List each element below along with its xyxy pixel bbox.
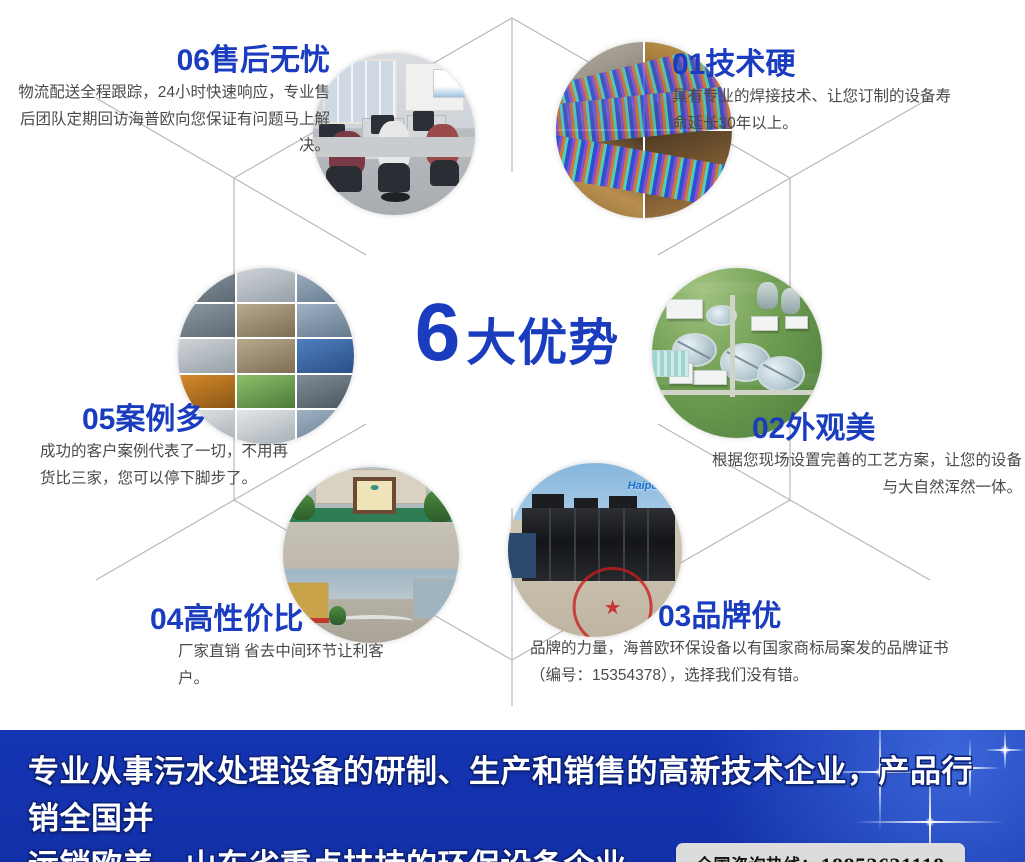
center-word: 大优势: [466, 318, 619, 368]
brand-watermark: Haipuou: [628, 480, 672, 492]
feature-05-heading: 05案例多: [40, 403, 330, 436]
feature-04-heading: 04高性价比: [150, 603, 480, 636]
hotline-label: 全国咨询热线：: [696, 853, 819, 862]
feature-01-heading: 01技术硬: [672, 48, 1002, 81]
feature-01: 01技术硬 具有专业的焊接技术、让您订制的设备寿命延长30年以上。: [672, 48, 1002, 137]
feature-03-body: 品牌的力量，海普欧环保设备以有国家商标局案发的品牌证书（编号：15354378）…: [530, 636, 970, 689]
feature-04: 04高性价比 厂家直销 省去中间环节让利客户。: [150, 603, 480, 692]
banner-line-2: 远销欧美，山东省重点扶持的环保设备企业。: [28, 842, 658, 862]
feature-03-heading: 03品牌优: [530, 600, 1025, 633]
feature-06-heading: 06售后无忧: [10, 44, 330, 77]
center-number: 6: [415, 292, 459, 374]
feature-02: 02外观美 根据您现场设置完善的工艺方案，让您的设备与大自然浑然一体。: [700, 412, 1022, 501]
center-headline: 6 大优势: [392, 292, 642, 372]
banner-text: 专业从事污水处理设备的研制、生产和销售的高新技术企业，产品行销全国并 远销欧美，…: [28, 748, 988, 862]
feature-06: 06售后无忧 物流配送全程跟踪，24小时快速响应，专业售后团队定期回访海普欧向您…: [10, 44, 330, 160]
hex-tail-lower-right: [790, 500, 930, 580]
banner-line-1: 专业从事污水处理设备的研制、生产和销售的高新技术企业，产品行销全国并: [28, 748, 988, 842]
hex-tail-lower-left: [96, 500, 234, 580]
feature-04-body: 厂家直销 省去中间环节让利客户。: [150, 639, 410, 692]
feature-05-body: 成功的客户案例代表了一切，不用再货比三家，您可以停下脚步了。: [40, 439, 288, 492]
feature-05: 05案例多 成功的客户案例代表了一切，不用再货比三家，您可以停下脚步了。: [40, 403, 330, 492]
photo-circle-06-office: [313, 53, 475, 215]
bottom-banner: 专业从事污水处理设备的研制、生产和销售的高新技术企业，产品行销全国并 远销欧美，…: [0, 730, 1025, 862]
feature-02-body: 根据您现场设置完善的工艺方案，让您的设备与大自然浑然一体。: [700, 448, 1022, 501]
hotline-number: 18853631118: [821, 849, 945, 862]
feature-03: 03品牌优 品牌的力量，海普欧环保设备以有国家商标局案发的品牌证书（编号：153…: [530, 600, 1025, 689]
feature-02-heading: 02外观美: [700, 412, 1022, 445]
hotline-box[interactable]: 全国咨询热线： 18853631118: [676, 843, 965, 862]
feature-06-body: 物流配送全程跟踪，24小时快速响应，专业售后团队定期回访海普欧向您保证有问题马上…: [10, 80, 330, 160]
feature-01-body: 具有专业的焊接技术、让您订制的设备寿命延长30年以上。: [672, 84, 952, 137]
infographic-page: 6 大优势: [0, 0, 1025, 862]
